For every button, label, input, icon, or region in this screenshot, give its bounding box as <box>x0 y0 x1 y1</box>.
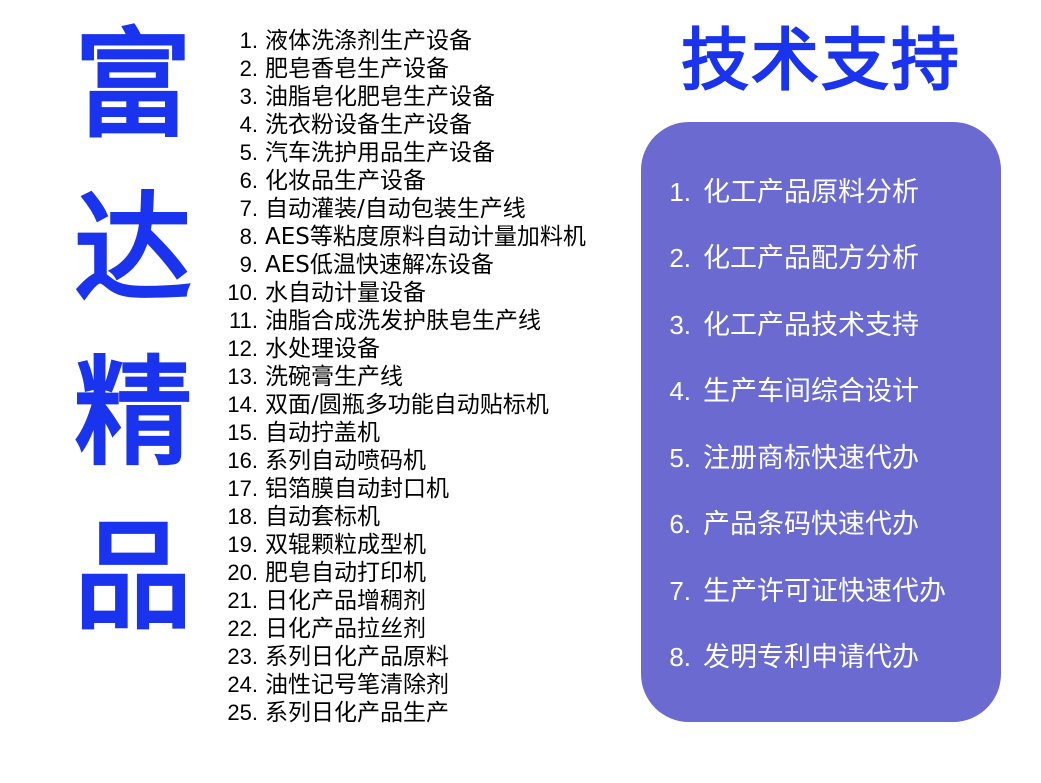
list-item-label: 化工产品配方分析 <box>691 236 919 275</box>
list-item-label: 系列日化产品生产 <box>258 699 449 727</box>
list-item-label: 铝箔膜自动封口机 <box>258 475 449 503</box>
list-item: 13.洗碗膏生产线 <box>222 363 622 391</box>
list-item-number: 5. <box>222 139 258 167</box>
list-item: 21.日化产品增稠剂 <box>222 587 622 615</box>
list-item-label: 油脂皂化肥皂生产设备 <box>258 83 495 111</box>
list-item: 19.双辊颗粒成型机 <box>222 531 622 559</box>
list-item-number: 9. <box>222 251 258 279</box>
list-item-number: 16. <box>222 447 258 475</box>
list-item-number: 24. <box>222 671 258 699</box>
list-item-label: 水自动计量设备 <box>258 279 426 307</box>
list-item-number: 4. <box>663 376 691 407</box>
brand-char: 富 <box>74 26 192 144</box>
list-item-number: 11. <box>222 307 258 335</box>
brand-char: 精 <box>74 354 192 472</box>
list-item: 3.化工产品技术支持 <box>641 303 1001 342</box>
list-item-label: 生产车间综合设计 <box>691 369 919 408</box>
list-item-label: 汽车洗护用品生产设备 <box>258 139 495 167</box>
list-item-number: 22. <box>222 615 258 643</box>
list-item-number: 15. <box>222 419 258 447</box>
list-item: 8.AES等粘度原料自动计量加料机 <box>222 223 622 251</box>
support-section-title: 技术支持 <box>641 22 1001 102</box>
list-item-number: 1. <box>663 177 691 208</box>
list-item-label: 自动灌装/自动包装生产线 <box>258 195 526 223</box>
list-item-label: 日化产品增稠剂 <box>258 587 426 615</box>
list-item-number: 1. <box>222 27 258 55</box>
list-item-label: 液体洗涤剂生产设备 <box>258 27 472 55</box>
brand-char: 品 <box>74 518 192 636</box>
list-item: 7.自动灌装/自动包装生产线 <box>222 195 622 223</box>
list-item-label: 化工产品技术支持 <box>691 303 919 342</box>
list-item-label: 发明专利申请代办 <box>691 635 919 674</box>
list-item: 23.系列日化产品原料 <box>222 643 622 671</box>
list-item-label: 双面/圆瓶多功能自动贴标机 <box>258 391 549 419</box>
list-item: 11.油脂合成洗发护肤皂生产线 <box>222 307 622 335</box>
list-item-label: 系列自动喷码机 <box>258 447 426 475</box>
list-item-number: 23. <box>222 643 258 671</box>
list-item-number: 7. <box>663 576 691 607</box>
list-item-label: 水处理设备 <box>258 335 380 363</box>
list-item: 6.化妆品生产设备 <box>222 167 622 195</box>
list-item: 1.化工产品原料分析 <box>641 170 1001 209</box>
list-item-label: 自动套标机 <box>258 503 380 531</box>
list-item-number: 13. <box>222 363 258 391</box>
list-item: 4.洗衣粉设备生产设备 <box>222 111 622 139</box>
list-item-label: 肥皂香皂生产设备 <box>258 55 449 83</box>
list-item: 25.系列日化产品生产 <box>222 699 622 727</box>
list-item-number: 21. <box>222 587 258 615</box>
list-item-number: 10. <box>222 279 258 307</box>
list-item-number: 8. <box>663 642 691 673</box>
list-item: 8.发明专利申请代办 <box>641 635 1001 674</box>
list-item-label: 化工产品原料分析 <box>691 170 919 209</box>
list-item-number: 20. <box>222 559 258 587</box>
list-item-label: 日化产品拉丝剂 <box>258 615 426 643</box>
list-item-number: 2. <box>222 55 258 83</box>
list-item: 4.生产车间综合设计 <box>641 369 1001 408</box>
list-item-number: 17. <box>222 475 258 503</box>
brand-title-vertical: 富 达 精 品 <box>68 26 198 636</box>
list-item: 1.液体洗涤剂生产设备 <box>222 27 622 55</box>
list-item-number: 18. <box>222 503 258 531</box>
product-list: 1.液体洗涤剂生产设备 2.肥皂香皂生产设备 3.油脂皂化肥皂生产设备 4.洗衣… <box>222 27 622 727</box>
list-item-label: 自动拧盖机 <box>258 419 380 447</box>
list-item: 16.系列自动喷码机 <box>222 447 622 475</box>
list-item-label: AES等粘度原料自动计量加料机 <box>258 223 586 251</box>
list-item-number: 19. <box>222 531 258 559</box>
list-item-label: 洗衣粉设备生产设备 <box>258 111 472 139</box>
list-item: 3.油脂皂化肥皂生产设备 <box>222 83 622 111</box>
brand-char: 达 <box>74 190 192 308</box>
list-item-number: 25. <box>222 699 258 727</box>
list-item-label: 油性记号笔清除剂 <box>258 671 449 699</box>
list-item-number: 14. <box>222 391 258 419</box>
list-item-label: AES低温快速解冻设备 <box>258 251 494 279</box>
list-item: 6.产品条码快速代办 <box>641 502 1001 541</box>
list-item: 17.铝箔膜自动封口机 <box>222 475 622 503</box>
list-item: 2.肥皂香皂生产设备 <box>222 55 622 83</box>
list-item: 24.油性记号笔清除剂 <box>222 671 622 699</box>
list-item-number: 6. <box>222 167 258 195</box>
list-item: 9.AES低温快速解冻设备 <box>222 251 622 279</box>
list-item-number: 7. <box>222 195 258 223</box>
list-item: 15.自动拧盖机 <box>222 419 622 447</box>
list-item-number: 5. <box>663 443 691 474</box>
list-item-label: 洗碗膏生产线 <box>258 363 403 391</box>
list-item: 7.生产许可证快速代办 <box>641 569 1001 608</box>
list-item: 5.汽车洗护用品生产设备 <box>222 139 622 167</box>
list-item-label: 生产许可证快速代办 <box>691 569 946 608</box>
list-item-label: 肥皂自动打印机 <box>258 559 426 587</box>
list-item-label: 双辊颗粒成型机 <box>258 531 426 559</box>
list-item: 5.注册商标快速代办 <box>641 436 1001 475</box>
list-item-number: 8. <box>222 223 258 251</box>
list-item: 20.肥皂自动打印机 <box>222 559 622 587</box>
list-item-label: 产品条码快速代办 <box>691 502 919 541</box>
list-item-number: 6. <box>663 509 691 540</box>
list-item-number: 2. <box>663 243 691 274</box>
list-item-label: 油脂合成洗发护肤皂生产线 <box>258 307 541 335</box>
list-item: 2.化工产品配方分析 <box>641 236 1001 275</box>
support-services-panel: 1.化工产品原料分析 2.化工产品配方分析 3.化工产品技术支持 4.生产车间综… <box>641 122 1001 722</box>
list-item-label: 化妆品生产设备 <box>258 167 426 195</box>
list-item-number: 12. <box>222 335 258 363</box>
list-item-number: 4. <box>222 111 258 139</box>
list-item: 10.水自动计量设备 <box>222 279 622 307</box>
list-item-number: 3. <box>222 83 258 111</box>
list-item-label: 系列日化产品原料 <box>258 643 449 671</box>
list-item-label: 注册商标快速代办 <box>691 436 919 475</box>
list-item: 18.自动套标机 <box>222 503 622 531</box>
list-item: 12.水处理设备 <box>222 335 622 363</box>
list-item-number: 3. <box>663 310 691 341</box>
list-item: 14.双面/圆瓶多功能自动贴标机 <box>222 391 622 419</box>
list-item: 22.日化产品拉丝剂 <box>222 615 622 643</box>
